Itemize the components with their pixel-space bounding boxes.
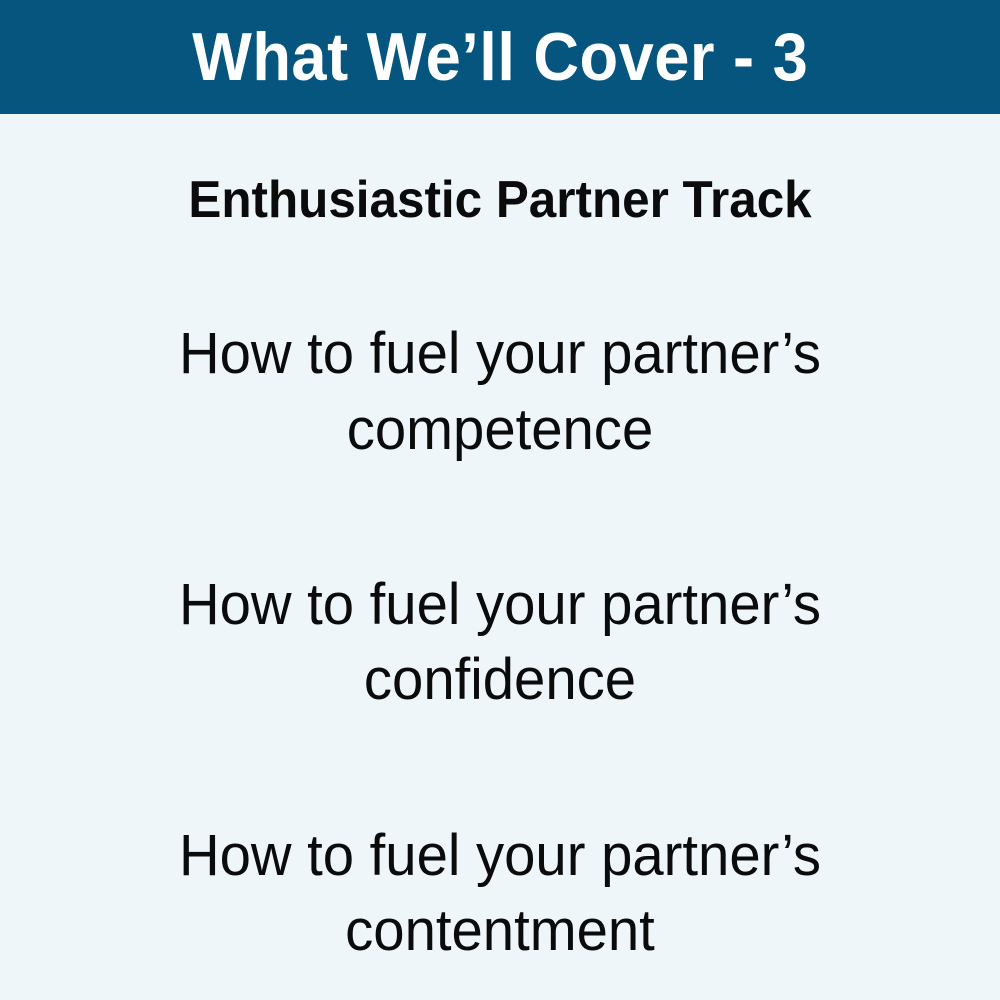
header-band: What We’ll Cover - 3	[0, 0, 1000, 114]
list-item: How to fuel your partner’s confidence	[131, 567, 868, 718]
section-heading: Enthusiastic Partner Track	[188, 172, 811, 228]
list-item: How to fuel your partner’s competence	[131, 316, 868, 467]
slide: What We’ll Cover - 3 Enthusiastic Partne…	[0, 0, 1000, 1000]
slide-body: Enthusiastic Partner Track How to fuel y…	[0, 114, 1000, 1000]
topic-list: How to fuel your partner’s competence Ho…	[110, 228, 890, 968]
page-title: What We’ll Cover - 3	[192, 23, 808, 91]
list-item: How to fuel your partner’s contentment	[131, 818, 868, 969]
